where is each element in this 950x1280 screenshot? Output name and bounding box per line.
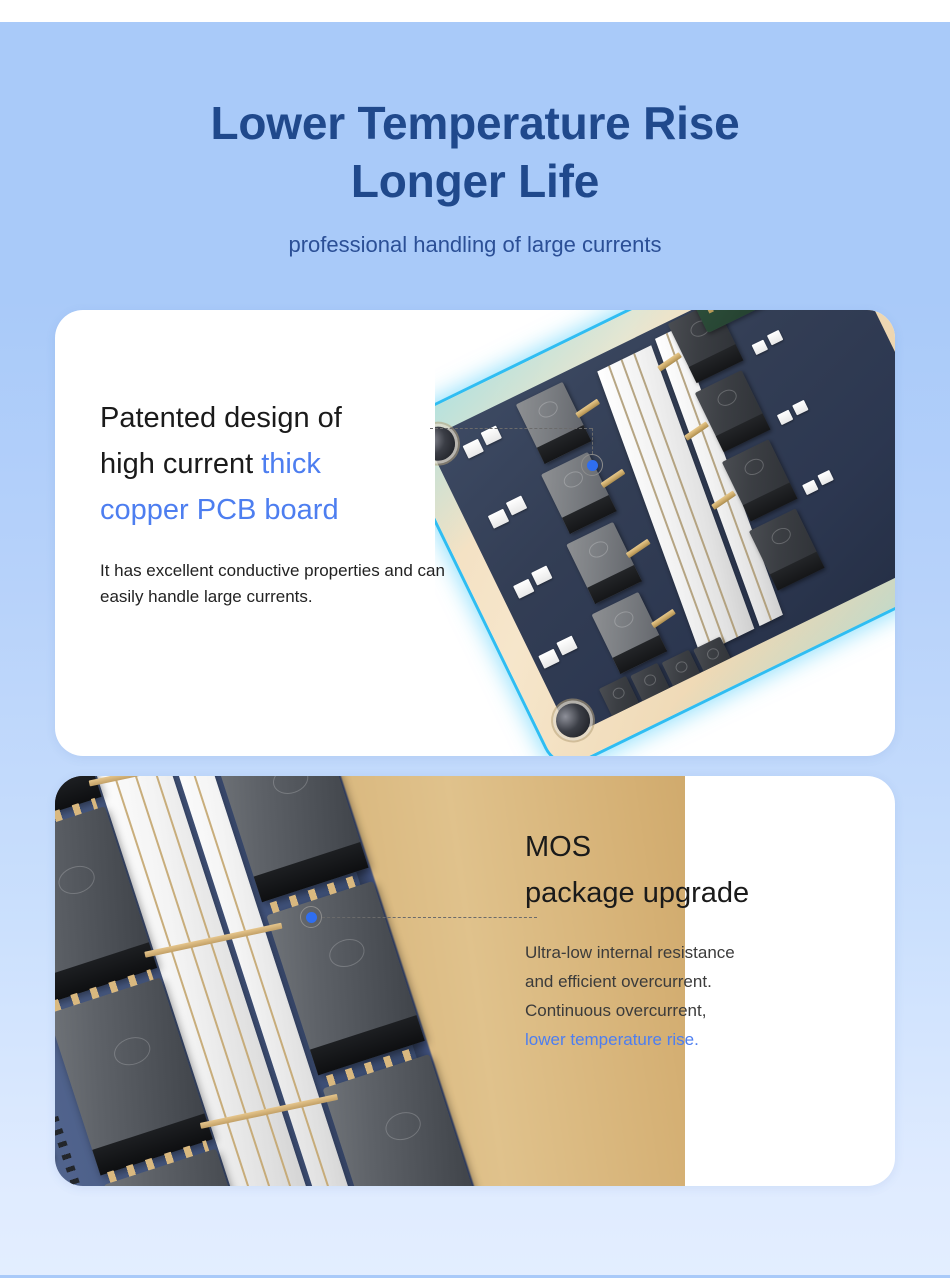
card1-body-text: It has excellent conductive properties a… (100, 558, 470, 610)
pcb-board-image (435, 310, 895, 756)
mosfet-lead (651, 609, 676, 629)
smd-component (792, 400, 809, 416)
mosfet-lead (626, 539, 651, 559)
pcb-board-rotated (435, 310, 895, 736)
smd-component (752, 340, 769, 356)
product-feature-page: Lower Temperature Rise Longer Life profe… (0, 0, 950, 1280)
smd-component (767, 330, 784, 346)
bottom-rule (0, 1275, 950, 1278)
page-title-line-2: Longer Life (0, 152, 950, 210)
smd-component (481, 425, 502, 445)
card2-body-line-2: and efficient overcurrent. (525, 972, 712, 991)
smd-component (488, 509, 509, 529)
page-header: Lower Temperature Rise Longer Life profe… (0, 94, 950, 260)
smd-component (802, 480, 819, 496)
mosfet-package (541, 452, 617, 534)
card2-body-text: Ultra-low internal resistance and effici… (525, 938, 875, 1054)
feature-card-pcb: Patented design of high current thick co… (55, 310, 895, 756)
smd-component (777, 410, 794, 426)
mosfet-lead (575, 399, 600, 419)
card1-heading: Patented design of high current thick co… (100, 395, 470, 533)
smd-component (817, 470, 834, 486)
mosfet-package (591, 592, 667, 674)
card2-body-line-3: Continuous overcurrent, (525, 1001, 706, 1020)
page-subtitle: professional handling of large currents (0, 230, 950, 260)
smd-component (531, 565, 552, 585)
smd-component (506, 495, 527, 515)
card2-heading: MOS package upgrade (525, 824, 875, 916)
card2-heading-line-2: package upgrade (525, 877, 749, 909)
card1-heading-part2: high current (100, 448, 261, 480)
card2-text-block: MOS package upgrade Ultra-low internal r… (525, 824, 875, 1054)
card2-body-line-1: Ultra-low internal resistance (525, 943, 735, 962)
page-title-line-1: Lower Temperature Rise (0, 94, 950, 152)
card1-text-block: Patented design of high current thick co… (100, 395, 470, 610)
smd-component (556, 636, 577, 656)
card1-heading-part1: Patented design of (100, 402, 342, 434)
card2-heading-line-1: MOS (525, 831, 591, 863)
mosfet-package (566, 522, 642, 604)
feature-card-mos: R001 R001 R001 MOS package upgrade (55, 776, 895, 1186)
mosfet-lead (600, 469, 625, 489)
card1-heading-highlight-2: copper PCB board (100, 494, 339, 526)
card1-heading-highlight-1: thick (261, 448, 321, 480)
smd-component (513, 579, 534, 599)
smd-component (538, 649, 559, 669)
mosfet-package (516, 382, 592, 464)
card2-body-highlight: lower temperature rise. (525, 1030, 699, 1049)
